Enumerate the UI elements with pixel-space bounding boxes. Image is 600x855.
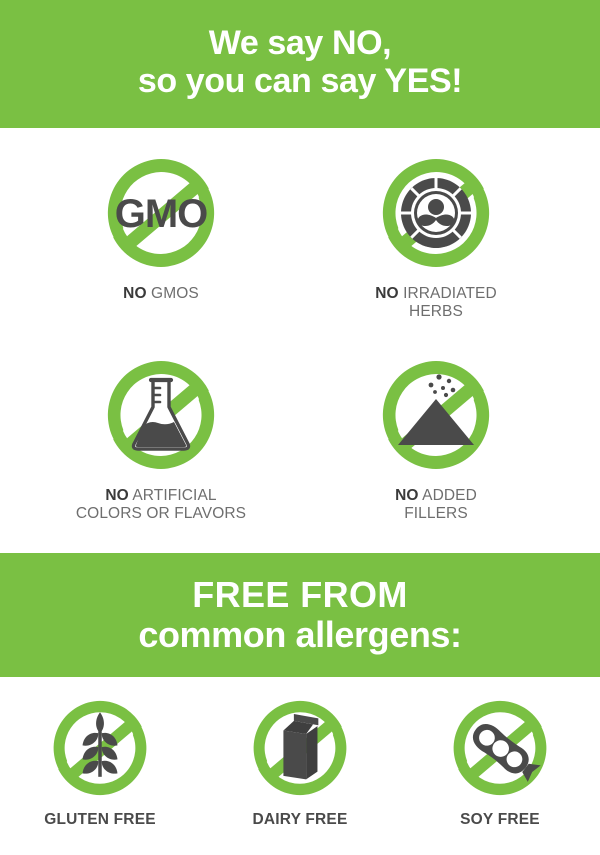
no-claim-caption: NO ARTIFICIAL COLORS OR FLAVORS (76, 487, 246, 524)
caption-emphasis: NO (105, 487, 128, 504)
no-claim-item-artificial-colors: NO ARTIFICIAL COLORS OR FLAVORS (0, 352, 300, 524)
no-irradiated-herbs-icon (373, 150, 499, 276)
soy-free-soybean-icon (445, 693, 555, 803)
caption-emphasis: NO (395, 487, 418, 504)
no-claim-caption: NO ADDED FILLERS (395, 487, 477, 524)
allergen-banner-line-1: FREE FROM (192, 575, 408, 615)
caption-emphasis: NO (123, 285, 146, 302)
no-added-fillers-icon (373, 352, 499, 478)
allergen-banner: FREE FROM common allergens: (0, 553, 600, 677)
no-claim-item-gmo: GMO NO GMOS (0, 150, 300, 303)
infographic-poster: We say NO, so you can say YES! GMO NO GM… (0, 0, 600, 855)
no-claim-item-added-fillers: NO ADDED FILLERS (300, 352, 600, 524)
allergen-label: DAIRY FREE (252, 811, 347, 829)
no-gmo-icon: GMO (98, 150, 224, 276)
dairy-free-carton-icon (245, 693, 355, 803)
allergen-item-soy: SOY FREE (400, 693, 600, 829)
header-banner: We say NO, so you can say YES! (0, 0, 600, 128)
allergen-label: GLUTEN FREE (44, 811, 156, 829)
header-line-2: so you can say YES! (138, 62, 462, 100)
caption-line-1: IRRADIATED (403, 285, 497, 302)
caption-line-1: ARTIFICIAL (132, 487, 216, 504)
caption-line-1: ADDED (422, 487, 477, 504)
allergen-item-dairy: DAIRY FREE (200, 693, 400, 829)
allergen-label: SOY FREE (460, 811, 540, 829)
allergen-item-gluten: GLUTEN FREE (0, 693, 200, 829)
no-artificial-colors-flask-icon (98, 352, 224, 478)
header-line-1: We say NO, (209, 24, 391, 62)
caption-emphasis: NO (375, 285, 398, 302)
no-claims-grid: GMO NO GMOS (0, 128, 600, 553)
no-claim-caption: NO IRRADIATED HERBS (375, 285, 497, 322)
gluten-free-wheat-icon (45, 693, 155, 803)
caption-line-2: HERBS (409, 303, 463, 320)
svg-text:GMO: GMO (115, 192, 208, 236)
no-claim-item-irradiated-herbs: NO IRRADIATED HERBS (300, 150, 600, 322)
no-claim-caption: NO GMOS (123, 285, 199, 303)
caption-line-2: COLORS OR FLAVORS (76, 505, 246, 522)
allergen-banner-line-2: common allergens: (138, 615, 461, 655)
allergen-grid: GLUTEN FREE DAIRY FREE (0, 677, 600, 855)
caption-line-1: GMOS (151, 285, 199, 302)
caption-line-2: FILLERS (404, 505, 468, 522)
